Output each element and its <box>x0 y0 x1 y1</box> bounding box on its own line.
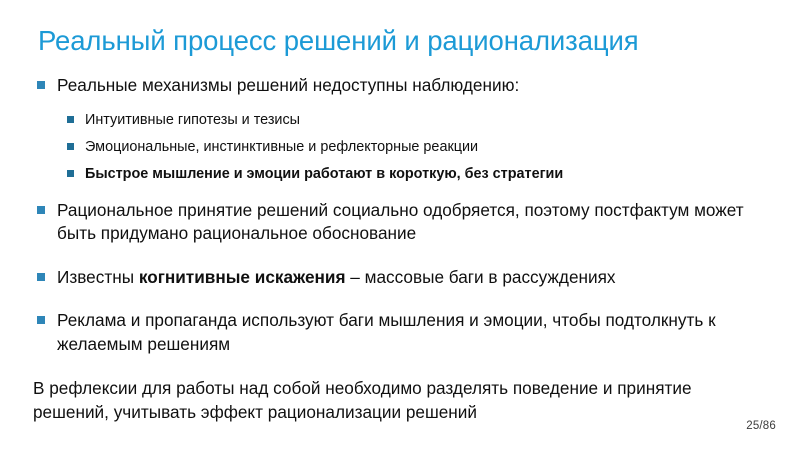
square-bullet-icon <box>67 116 74 123</box>
sub-bullet-item-3-text: Быстрое мышление и эмоции работают в кор… <box>85 166 563 182</box>
square-bullet-icon <box>37 273 45 281</box>
square-bullet-icon <box>67 170 74 177</box>
slide-body: Реальные механизмы решений недоступны на… <box>0 74 800 424</box>
bullet-item-3-prefix: Известны <box>57 267 139 287</box>
sub-bullet-item-3: Быстрое мышление и эмоции работают в кор… <box>0 164 800 184</box>
bullet-item-2: Рациональное принятие решений социально … <box>0 199 800 246</box>
bullet-item-1-text: Реальные механизмы решений недоступны на… <box>57 75 519 95</box>
square-bullet-icon <box>37 316 45 324</box>
bullet-item-4-text: Реклама и пропаганда используют баги мыш… <box>57 310 716 354</box>
sub-bullet-group: Интуитивные гипотезы и тезисы Эмоциональ… <box>0 110 800 184</box>
sub-bullet-item-2-text: Эмоциональные, инстинктивные и рефлектор… <box>85 139 478 155</box>
bullet-item-4: Реклама и пропаганда используют баги мыш… <box>0 309 800 356</box>
sub-bullet-item-2: Эмоциональные, инстинктивные и рефлектор… <box>0 137 800 157</box>
closing-paragraph: В рефлексии для работы над собой необход… <box>0 376 800 424</box>
page-number: 25/86 <box>746 420 776 433</box>
presentation-slide: Реальный процесс решений и рационализаци… <box>0 0 800 450</box>
sub-bullet-item-1-text: Интуитивные гипотезы и тезисы <box>85 112 300 128</box>
bullet-item-1: Реальные механизмы решений недоступны на… <box>0 74 800 98</box>
bullet-item-3-emphasis: когнитивные искажения <box>139 267 346 287</box>
page-title: Реальный процесс решений и рационализаци… <box>38 24 768 58</box>
bullet-item-3-suffix: – массовые баги в рассуждениях <box>346 267 616 287</box>
square-bullet-icon <box>67 143 74 150</box>
square-bullet-icon <box>37 206 45 214</box>
square-bullet-icon <box>37 81 45 89</box>
bullet-item-2-text: Рациональное принятие решений социально … <box>57 200 744 244</box>
closing-paragraph-text: В рефлексии для работы над собой необход… <box>33 378 692 422</box>
sub-bullet-item-1: Интуитивные гипотезы и тезисы <box>0 110 800 130</box>
bullet-item-3: Известны когнитивные искажения – массовы… <box>0 266 800 290</box>
